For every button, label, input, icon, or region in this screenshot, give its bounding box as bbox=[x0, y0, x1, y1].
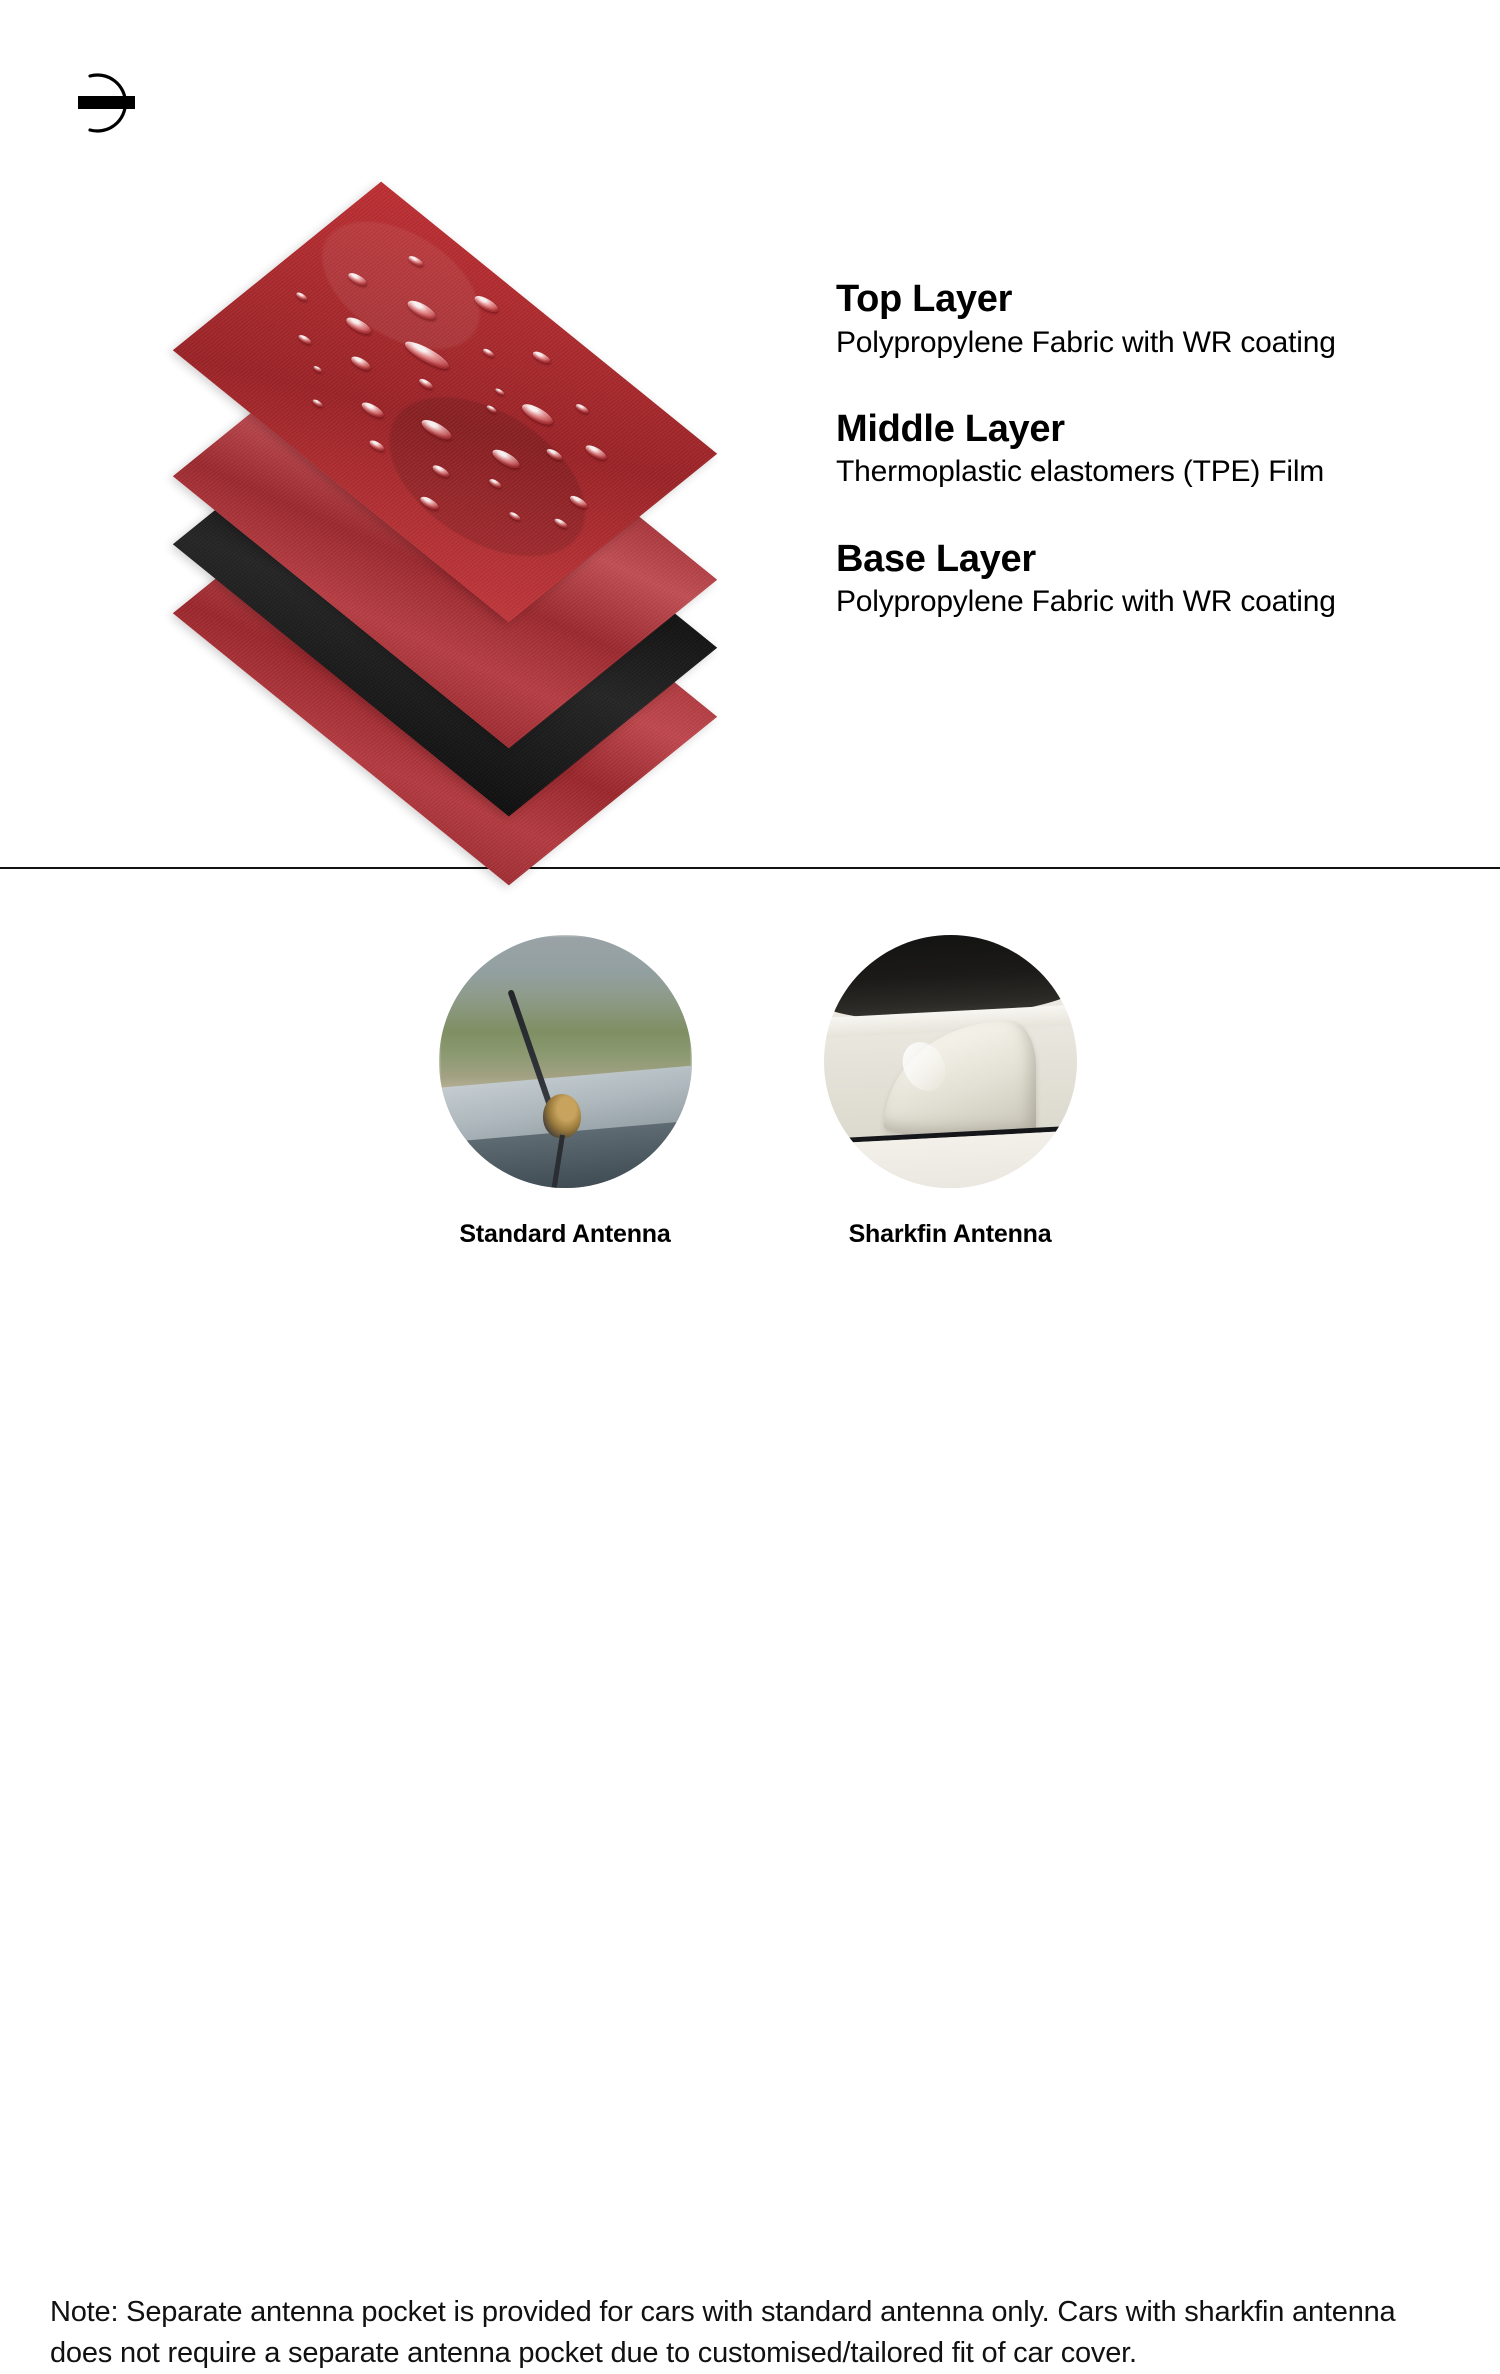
water-droplet bbox=[545, 447, 563, 462]
water-droplet bbox=[482, 347, 495, 358]
water-droplet bbox=[574, 402, 589, 415]
water-droplet bbox=[532, 349, 552, 365]
layer-callout-list: Top Layer Polypropylene Fabric with WR c… bbox=[836, 278, 1476, 620]
fabric-layers-panel: Top Layer Polypropylene Fabric with WR c… bbox=[0, 0, 1500, 868]
antenna-item-standard: Standard Antenna bbox=[415, 935, 715, 1249]
exploded-layer-stack bbox=[95, 195, 795, 765]
water-droplet bbox=[402, 337, 451, 373]
standard-antenna-photo bbox=[439, 935, 692, 1188]
water-droplet bbox=[508, 511, 521, 522]
water-droplet bbox=[419, 494, 440, 512]
water-droplet bbox=[486, 404, 498, 414]
antenna-item-sharkfin: Sharkfin Antenna bbox=[800, 935, 1100, 1249]
antenna-caption-sharkfin: Sharkfin Antenna bbox=[800, 1220, 1100, 1249]
water-droplet bbox=[488, 478, 503, 490]
layer-title-top: Top Layer bbox=[836, 278, 1476, 321]
water-droplet bbox=[520, 400, 555, 428]
layer-title-base: Base Layer bbox=[836, 538, 1476, 581]
water-droplet bbox=[297, 333, 312, 346]
layer-callout-middle: Middle Layer Thermoplastic elastomers (T… bbox=[836, 408, 1476, 490]
water-droplet bbox=[345, 314, 373, 337]
antenna-comparison-row: Standard Antenna Sharkfin Antenna bbox=[415, 935, 1115, 1265]
layer-desc-base: Polypropylene Fabric with WR coating bbox=[836, 584, 1476, 619]
water-droplet bbox=[568, 493, 588, 510]
water-droplet bbox=[554, 517, 569, 530]
water-droplet bbox=[360, 400, 385, 421]
water-droplet bbox=[347, 270, 368, 287]
water-droplet bbox=[312, 398, 324, 408]
water-droplet bbox=[350, 354, 372, 373]
water-droplet bbox=[490, 446, 521, 471]
water-droplet bbox=[408, 254, 425, 268]
layer-title-middle: Middle Layer bbox=[836, 408, 1476, 451]
water-droplet bbox=[472, 292, 499, 314]
water-droplet bbox=[431, 463, 450, 479]
antenna-pocket-note: Note: Separate antenna pocket is provide… bbox=[50, 2292, 1465, 2374]
water-droplet bbox=[494, 387, 505, 396]
water-droplet bbox=[417, 377, 433, 391]
water-droplet bbox=[406, 297, 438, 323]
water-droplet bbox=[584, 442, 608, 462]
layer-callout-top: Top Layer Polypropylene Fabric with WR c… bbox=[836, 278, 1476, 360]
standard-antenna-base-mount bbox=[543, 1094, 581, 1138]
water-droplet bbox=[313, 365, 323, 373]
water-droplet bbox=[419, 416, 453, 443]
antenna-caption-standard: Standard Antenna bbox=[415, 1220, 715, 1249]
layer-desc-middle: Thermoplastic elastomers (TPE) Film bbox=[836, 454, 1476, 489]
layer-callout-base: Base Layer Polypropylene Fabric with WR … bbox=[836, 538, 1476, 620]
layer-desc-top: Polypropylene Fabric with WR coating bbox=[836, 325, 1476, 360]
sharkfin-antenna-photo bbox=[824, 935, 1077, 1188]
water-droplet bbox=[368, 438, 385, 453]
water-droplet bbox=[296, 291, 309, 302]
antenna-types-panel: Standard Antenna Sharkfin Antenna Note: … bbox=[0, 869, 1500, 1500]
